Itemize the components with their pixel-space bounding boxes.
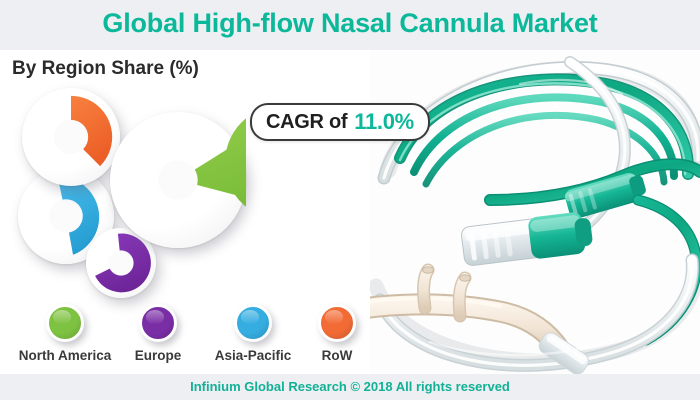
donut-north-america — [110, 112, 246, 248]
donut-north-america-ring — [110, 112, 246, 248]
legend-label-asia-pacific: Asia-Pacific — [198, 348, 308, 363]
legend-label-row: RoW — [302, 348, 372, 363]
nasal-cannula-photo — [370, 50, 700, 374]
cagr-label: CAGR of — [266, 111, 347, 134]
legend-item-europe: Europe — [118, 304, 198, 363]
infographic-canvas: X.X% X.X% X.X% — [0, 0, 700, 400]
legend-swatch-north-america — [46, 304, 84, 342]
cagr-badge: CAGR of 11.0% — [250, 103, 430, 141]
legend-item-asia-pacific: Asia-Pacific — [198, 304, 308, 363]
footer-band: Infinium Global Research © 2018 All righ… — [0, 374, 700, 400]
legend-swatch-asia-pacific — [234, 304, 272, 342]
region-legend: North America Europe Asia-Pacific RoW — [0, 304, 390, 366]
panel-heading: By Region Share (%) — [12, 58, 199, 80]
legend-swatch-europe — [139, 304, 177, 342]
copyright-text: Infinium Global Research © 2018 All righ… — [0, 379, 700, 394]
legend-label-north-america: North America — [10, 348, 120, 363]
donut-row — [22, 88, 120, 186]
legend-swatch-row — [318, 304, 356, 342]
donut-row-ring — [22, 88, 120, 186]
legend-item-row: RoW — [302, 304, 372, 363]
header-band: Global High-flow Nasal Cannula Market — [0, 0, 700, 50]
page-title: Global High-flow Nasal Cannula Market — [0, 8, 700, 39]
legend-label-europe: Europe — [118, 348, 198, 363]
cagr-value: 11.0% — [354, 109, 414, 135]
legend-item-north-america: North America — [10, 304, 120, 363]
